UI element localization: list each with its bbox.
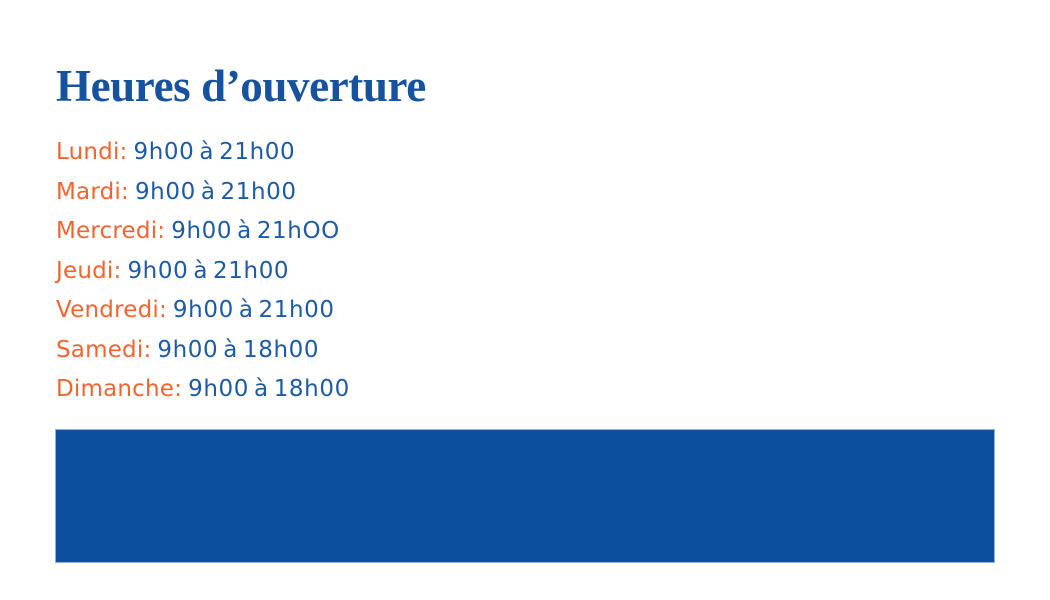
close-time: 21h00 <box>259 297 335 323</box>
time-separator: à <box>188 258 213 284</box>
time-separator: à <box>234 297 259 323</box>
close-time: 18h00 <box>243 337 319 363</box>
open-time: 9h00 <box>135 179 196 205</box>
open-time: 9h00 <box>127 258 188 284</box>
time-separator: à <box>249 376 274 402</box>
hours-value: 9h00à21h00 <box>173 297 335 323</box>
open-time: 9h00 <box>134 139 195 165</box>
hours-value: 9h00à21h00 <box>134 139 296 165</box>
media-placeholder-block[interactable] <box>55 429 995 563</box>
day-label: Lundi: <box>56 139 128 165</box>
hours-value: 9h00à18h00 <box>188 376 350 402</box>
time-separator: à <box>196 179 221 205</box>
day-label: Vendredi: <box>56 297 167 323</box>
close-time: 21h00 <box>221 179 297 205</box>
hours-value: 9h00à21h00 <box>127 258 289 284</box>
list-item: Mercredi:9h00à21hOO <box>56 212 350 252</box>
open-time: 9h00 <box>171 218 232 244</box>
day-label: Mercredi: <box>56 218 165 244</box>
close-time: 21h00 <box>213 258 289 284</box>
time-separator: à <box>232 218 257 244</box>
list-item: Jeudi:9h00à21h00 <box>56 252 350 292</box>
day-label: Dimanche: <box>56 376 182 402</box>
list-item: Vendredi:9h00à21h00 <box>56 291 350 331</box>
open-time: 9h00 <box>188 376 249 402</box>
list-item: Dimanche:9h00à18h00 <box>56 370 350 410</box>
time-separator: à <box>194 139 219 165</box>
slide-canvas: Heures d’ouverture Lundi:9h00à21h00 Mard… <box>0 0 1050 600</box>
close-time: 21h00 <box>219 139 295 165</box>
page-title: Heures d’ouverture <box>56 60 426 112</box>
list-item: Mardi:9h00à21h00 <box>56 173 350 213</box>
open-time: 9h00 <box>173 297 234 323</box>
time-separator: à <box>218 337 243 363</box>
day-label: Jeudi: <box>56 258 121 284</box>
hours-value: 9h00à21h00 <box>135 179 297 205</box>
day-label: Samedi: <box>56 337 151 363</box>
open-time: 9h00 <box>157 337 218 363</box>
hours-value: 9h00à18h00 <box>157 337 319 363</box>
opening-hours-list: Lundi:9h00à21h00 Mardi:9h00à21h00 Mercre… <box>56 133 350 410</box>
list-item: Lundi:9h00à21h00 <box>56 133 350 173</box>
day-label: Mardi: <box>56 179 129 205</box>
list-item: Samedi:9h00à18h00 <box>56 331 350 371</box>
close-time: 18h00 <box>274 376 350 402</box>
hours-value: 9h00à21hOO <box>171 218 340 244</box>
close-time: 21hOO <box>257 218 340 244</box>
